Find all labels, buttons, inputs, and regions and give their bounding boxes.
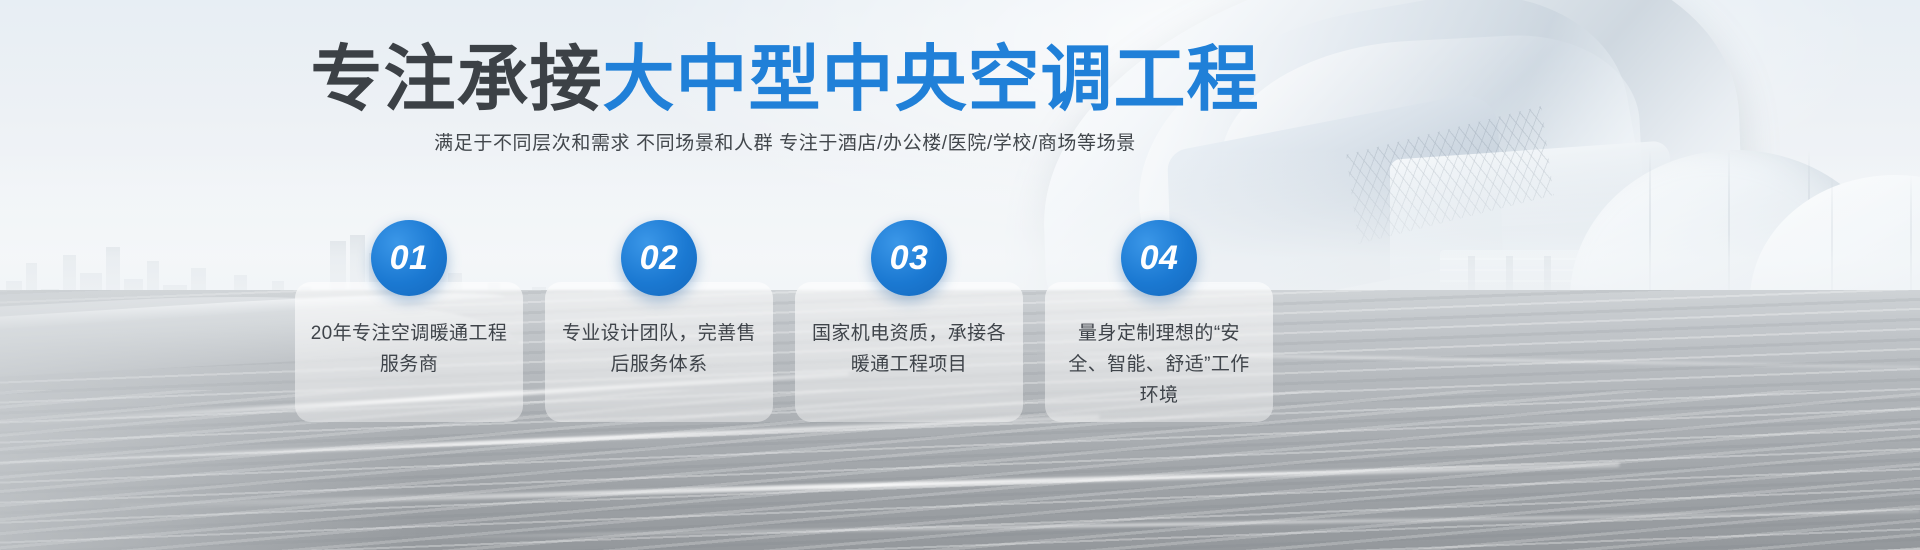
headline-dark-part: 专注承接	[310, 40, 602, 120]
feature-cards: 01 20年专注空调暖通工程服务商 02 专业设计团队，完善售后服务体系 03 …	[295, 282, 1273, 422]
card-text-01: 20年专注空调暖通工程服务商	[309, 318, 509, 380]
hero-banner: 专注承接大中型中央空调工程 满足于不同层次和需求 不同场景和人群 专注于酒店/办…	[0, 0, 1920, 550]
card-number-02: 02	[640, 239, 679, 278]
feature-card-01[interactable]: 01 20年专注空调暖通工程服务商	[295, 282, 523, 422]
feature-card-04[interactable]: 04 量身定制理想的“安全、智能、舒适”工作环境	[1045, 282, 1273, 422]
card-text-02: 专业设计团队，完善售后服务体系	[559, 318, 759, 380]
banner-subtitle: 满足于不同层次和需求 不同场景和人群 专注于酒店/办公楼/医院/学校/商场等场景	[0, 128, 1570, 155]
card-text-03: 国家机电资质，承接各暖通工程项目	[809, 318, 1009, 380]
card-number-badge-01: 01	[371, 220, 447, 296]
card-number-01: 01	[390, 239, 429, 278]
card-number-badge-04: 04	[1121, 220, 1197, 296]
headline-blue-part: 大中型中央空调工程	[603, 40, 1260, 120]
feature-card-02[interactable]: 02 专业设计团队，完善售后服务体系	[545, 282, 773, 422]
card-number-04: 04	[1140, 239, 1179, 278]
banner-headline: 专注承接大中型中央空调工程	[0, 44, 1570, 116]
card-number-03: 03	[890, 239, 929, 278]
card-number-badge-03: 03	[871, 220, 947, 296]
card-text-04: 量身定制理想的“安全、智能、舒适”工作环境	[1059, 318, 1259, 411]
feature-card-03[interactable]: 03 国家机电资质，承接各暖通工程项目	[795, 282, 1023, 422]
card-number-badge-02: 02	[621, 220, 697, 296]
